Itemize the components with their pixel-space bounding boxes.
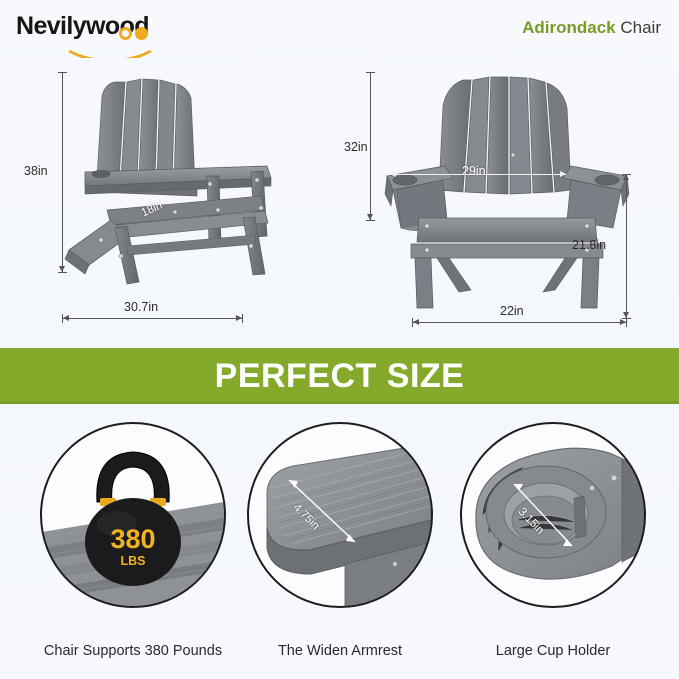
feature-circle-outline <box>247 422 433 608</box>
chair-side-view-illustration <box>55 60 325 300</box>
dim-arrow-up-overall <box>623 174 629 180</box>
dim-label-overall-height-21-8in: 21.8in <box>572 238 606 252</box>
dim-arrow-down-back <box>367 214 373 220</box>
dim-arrow-left-base <box>413 319 419 325</box>
dim-tick-right-base <box>626 318 627 327</box>
section-banner: PERFECT SIZE <box>0 348 679 404</box>
dim-arrow-down-left <box>59 266 65 272</box>
feature-caption-widen-armrest: The Widen Armrest <box>227 643 453 659</box>
banner-title: PERFECT SIZE <box>215 357 465 396</box>
product-type-name: Chair <box>616 18 661 37</box>
logo-smile-icon <box>58 34 156 58</box>
dim-line-width-left <box>62 318 242 319</box>
dim-tick-right-width <box>242 314 243 323</box>
feature-weight-capacity: 380 LBS Chair Supports 380 Pounds <box>20 422 246 677</box>
dim-label-back-height-32in: 32in <box>344 140 368 154</box>
feature-circle-outline <box>40 422 226 608</box>
feature-highlights: 380 LBS Chair Supports 380 Pounds <box>0 404 679 679</box>
dim-label-arm-span-29in: 29in <box>462 164 486 178</box>
dim-tick-top-back <box>366 72 375 73</box>
header: Nevilywood Adirondack Chair <box>0 0 679 56</box>
feature-image-circle: 380 LBS <box>40 422 226 608</box>
dim-arrow-right-armspan <box>560 171 566 177</box>
dimension-diagrams: 38in 30.7in 18in <box>0 56 679 348</box>
dim-label-base-width-22in: 22in <box>500 304 524 318</box>
feature-cup-holder: 3.15in Large Cup Holder <box>440 422 666 677</box>
dim-line-height-left <box>62 72 63 272</box>
dim-line-back-height <box>370 72 371 220</box>
chair-front-view-panel: 32in 29in 21.8in 22in <box>340 56 679 348</box>
dim-arrow-left-armspan <box>390 171 396 177</box>
feature-widen-armrest: 4.75in The Widen Armrest <box>227 422 453 677</box>
dim-tick-bottom-back <box>366 220 375 221</box>
feature-caption-cup-holder: Large Cup Holder <box>440 643 666 659</box>
page-title: Adirondack Chair <box>522 18 661 38</box>
chair-front-view-illustration <box>375 60 640 310</box>
dim-tick-top-left <box>58 72 67 73</box>
dim-label-width-30-7in: 30.7in <box>124 300 158 314</box>
product-infographic: Nevilywood Adirondack Chair <box>0 0 679 679</box>
feature-image-circle: 4.75in <box>247 422 433 608</box>
feature-image-circle: 3.15in <box>460 422 646 608</box>
chair-side-view-panel: 38in 30.7in 18in <box>0 56 340 348</box>
dim-line-base-width <box>412 322 626 323</box>
dim-label-height-38in: 38in <box>24 164 48 178</box>
product-style-name: Adirondack <box>522 18 616 37</box>
dim-arrow-right-width <box>236 315 242 321</box>
dim-line-overall-height <box>626 174 627 318</box>
dim-arrow-right-base <box>620 319 626 325</box>
feature-caption-weight-capacity: Chair Supports 380 Pounds <box>20 643 246 659</box>
feature-circle-outline <box>460 422 646 608</box>
brand-logo: Nevilywood <box>16 12 196 52</box>
dim-tick-bottom-left <box>58 272 67 273</box>
dim-arrow-left-width <box>63 315 69 321</box>
